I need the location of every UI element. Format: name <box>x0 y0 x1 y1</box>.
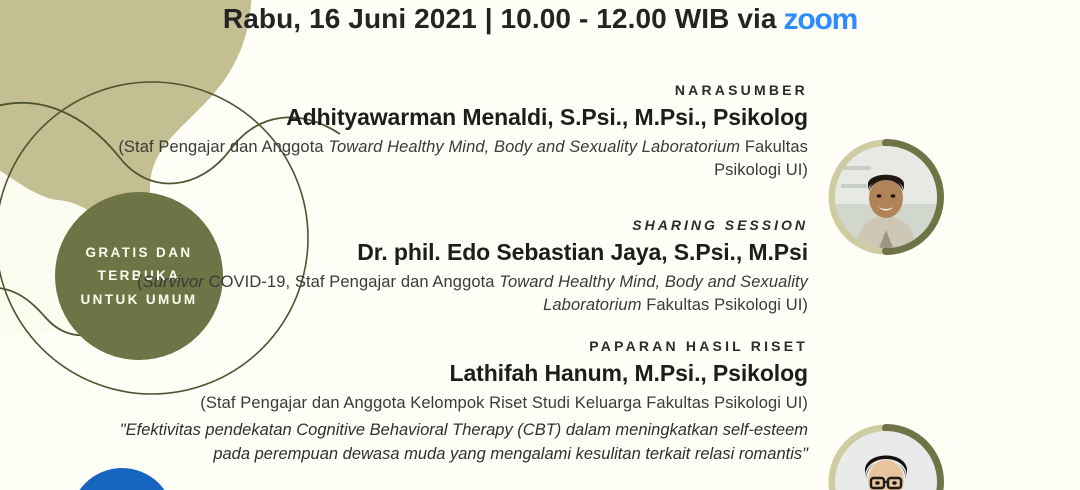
speaker-2-name: Dr. phil. Edo Sebastian Jaya, S.Psi., M.… <box>100 237 808 268</box>
webinar-poster: Rabu, 16 Juni 2021 | 10.00 - 12.00 WIB v… <box>0 0 1080 490</box>
speaker-2-text: SHARING SESSION Dr. phil. Edo Sebastian … <box>100 215 808 318</box>
speaker-3-text: PAPARAN HASIL RISET Lathifah Hanum, M.Ps… <box>100 336 808 467</box>
header-bar: Rabu, 16 Juni 2021 | 10.00 - 12.00 WIB v… <box>0 2 1080 36</box>
speaker-3-affiliation: (Staf Pengajar dan Anggota Kelompok Rise… <box>100 392 808 415</box>
speaker-1-text: NARASUMBER Adhityawarman Menaldi, S.Psi.… <box>100 80 808 183</box>
event-datetime: Rabu, 16 Juni 2021 | 10.00 - 12.00 WIB v… <box>223 3 777 35</box>
speaker-list: NARASUMBER Adhityawarman Menaldi, S.Psi.… <box>0 0 1080 490</box>
speaker-2-role: SHARING SESSION <box>100 215 808 236</box>
avatar-photo-1 <box>835 146 937 248</box>
zoom-logo: zoom <box>784 3 858 37</box>
speaker-1-name: Adhityawarman Menaldi, S.Psi., M.Psi., P… <box>100 102 808 133</box>
speaker-1-affiliation: (Staf Pengajar dan Anggota Toward Health… <box>100 136 808 183</box>
speaker-3-role: PAPARAN HASIL RISET <box>100 336 808 357</box>
speaker-3-name: Lathifah Hanum, M.Psi., Psikolog <box>100 358 808 389</box>
speaker-1-role: NARASUMBER <box>100 80 808 101</box>
speaker-2-avatar <box>827 423 945 490</box>
speaker-1-avatar <box>827 138 945 256</box>
speaker-3-research-title: "Efektivitas pendekatan Cognitive Behavi… <box>100 419 808 467</box>
speaker-2-affiliation: (Survivor COVID-19, Staf Pengajar dan An… <box>100 271 808 318</box>
